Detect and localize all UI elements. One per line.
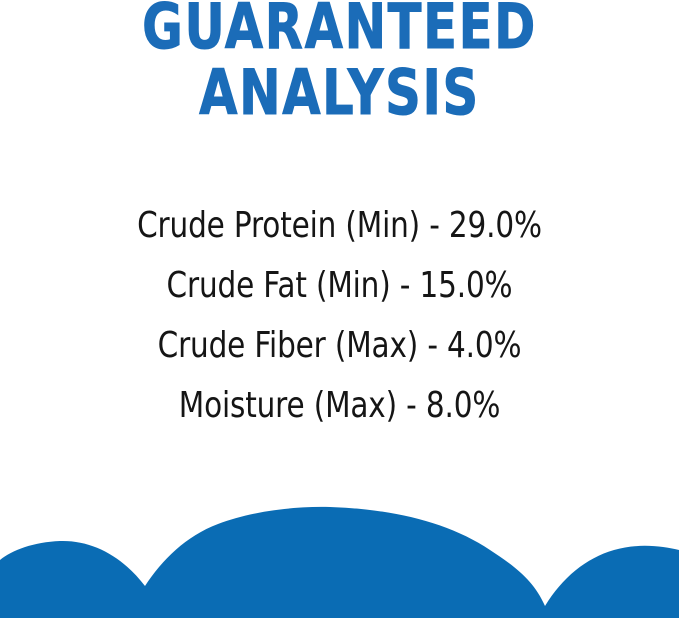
- scalloped-wave-path: [0, 507, 679, 618]
- page-title-line-2: ANALYSIS: [68, 60, 611, 126]
- scalloped-wave-decoration: [0, 488, 679, 618]
- analysis-row-crude-fiber: Crude Fiber (Max) - 4.0%: [61, 316, 618, 376]
- analysis-row-crude-protein: Crude Protein (Min) - 29.0%: [61, 196, 618, 256]
- analysis-row-moisture: Moisture (Max) - 8.0%: [61, 376, 618, 436]
- page-title-line-1: GUARANTEED: [68, 0, 611, 60]
- page-title: GUARANTEED ANALYSIS: [68, 0, 611, 126]
- analysis-list: Crude Protein (Min) - 29.0% Crude Fat (M…: [0, 196, 679, 436]
- analysis-row-crude-fat: Crude Fat (Min) - 15.0%: [61, 256, 618, 316]
- guaranteed-analysis-panel: GUARANTEED ANALYSIS Crude Protein (Min) …: [0, 0, 679, 618]
